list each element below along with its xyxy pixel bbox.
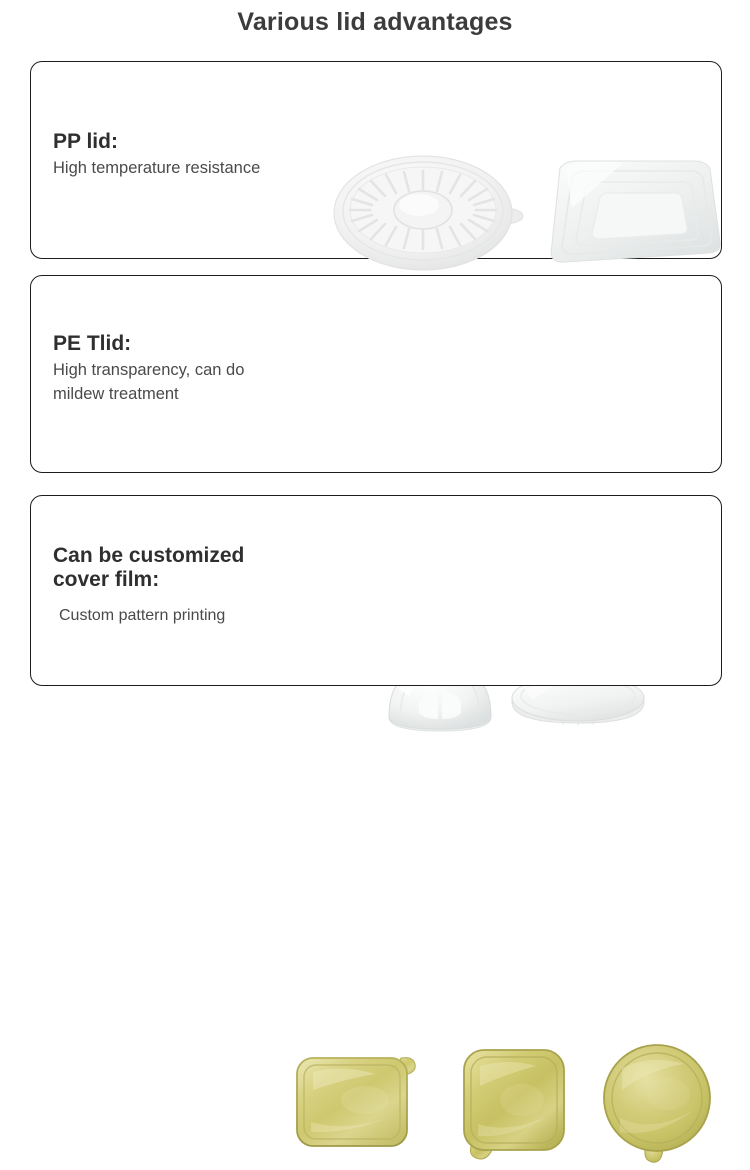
round-pp-lid-image — [331, 150, 531, 275]
card-pe-heading: PE Tlid: — [53, 332, 328, 356]
square-gold-foil-lid-image — [456, 1044, 576, 1169]
card-pe-text-block: PE Tlid: High transparency, can do milde… — [53, 332, 328, 407]
round-gold-foil-lid-image — [596, 1040, 721, 1170]
page-title: Various lid advantages — [0, 8, 750, 37]
card-pp-heading: PP lid: — [53, 130, 328, 154]
rectangular-gold-foil-lid-image — [293, 1048, 423, 1158]
rectangular-pp-lid-image — [526, 144, 731, 284]
card-pe-description: High transparency, can do mildew treatme… — [53, 359, 328, 407]
card-film-heading: Can be customized cover film: — [53, 544, 328, 591]
card-pp-description: High temperature resistance — [53, 157, 328, 181]
card-film-text-block: Can be customized cover film: Custom pat… — [53, 544, 328, 627]
card-pp-text-block: PP lid: High temperature resistance — [53, 130, 328, 181]
card-film-description: Custom pattern printing — [53, 604, 328, 627]
card-pe-lid: PE Tlid: High transparency, can do milde… — [30, 275, 722, 473]
card-cover-film: Can be customized cover film: Custom pat… — [30, 495, 722, 686]
card-pp-lid: PP lid: High temperature resistance — [30, 61, 722, 259]
